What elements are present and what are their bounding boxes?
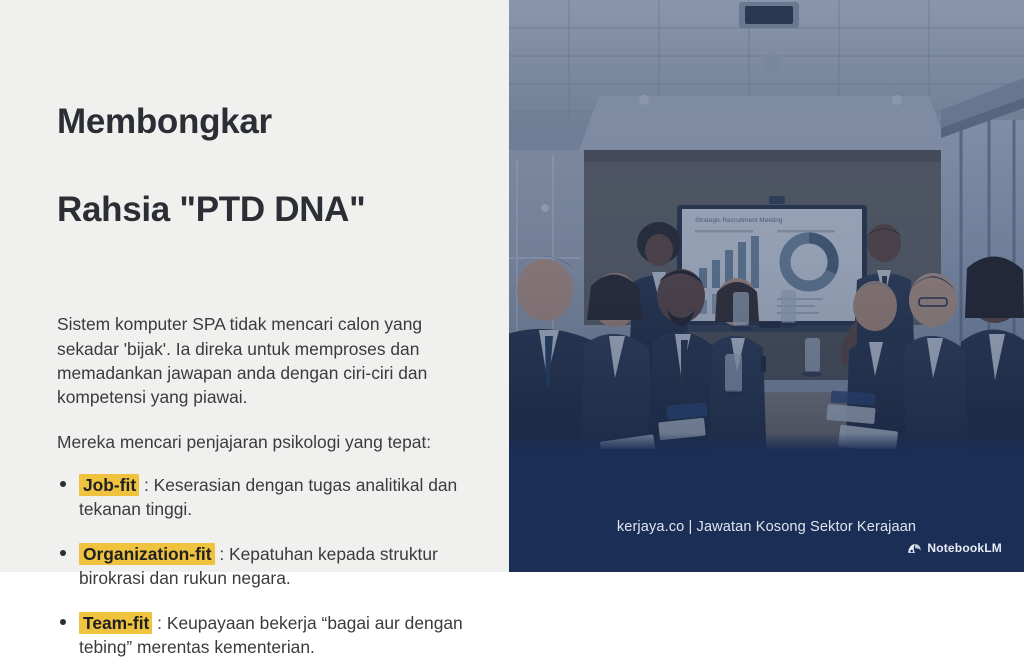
bullet-separator: : [139, 475, 154, 495]
page-title: Membongkar Rahsia "PTD DNA" [57, 56, 479, 276]
slide: Membongkar Rahsia "PTD DNA" Sistem kompu… [0, 0, 1024, 572]
notebooklm-watermark: NotebookLM [907, 541, 1002, 555]
bullet-term-team-fit: Team-fit [79, 612, 152, 634]
boardroom-photo: Strategic Recruitment Meeting [509, 0, 1024, 572]
text-panel: Membongkar Rahsia "PTD DNA" Sistem kompu… [0, 0, 509, 572]
svg-text:Strategic Recruitment Meeting: Strategic Recruitment Meeting [695, 217, 783, 224]
notebooklm-spark-icon [907, 542, 922, 555]
bullet-dot-icon [60, 550, 66, 556]
list-item: Organization-fit : Kepatuhan kepada stru… [57, 542, 479, 590]
bullet-separator: : [152, 613, 167, 633]
notebooklm-label: NotebookLM [927, 541, 1002, 555]
bullet-term-organization-fit: Organization-fit [79, 543, 215, 565]
bullet-term-job-fit: Job-fit [79, 474, 139, 496]
bullet-dot-icon [60, 481, 66, 487]
list-item: Team-fit : Keupayaan bekerja “bagai aur … [57, 611, 479, 659]
list-item: Job-fit : Keserasian dengan tugas analit… [57, 473, 479, 521]
bullet-separator: : [215, 544, 230, 564]
footer-caption: kerjaya.co | Jawatan Kosong Sektor Keraj… [509, 519, 1024, 537]
title-line-1: Membongkar [57, 100, 479, 144]
title-line-2: Rahsia "PTD DNA" [57, 188, 479, 232]
intro-paragraph: Sistem komputer SPA tidak mencari calon … [57, 312, 477, 408]
lead-in-paragraph: Mereka mencari penjajaran psikologi yang… [57, 430, 477, 454]
fit-list: Job-fit : Keserasian dengan tugas analit… [57, 473, 479, 660]
bullet-dot-icon [60, 619, 66, 625]
